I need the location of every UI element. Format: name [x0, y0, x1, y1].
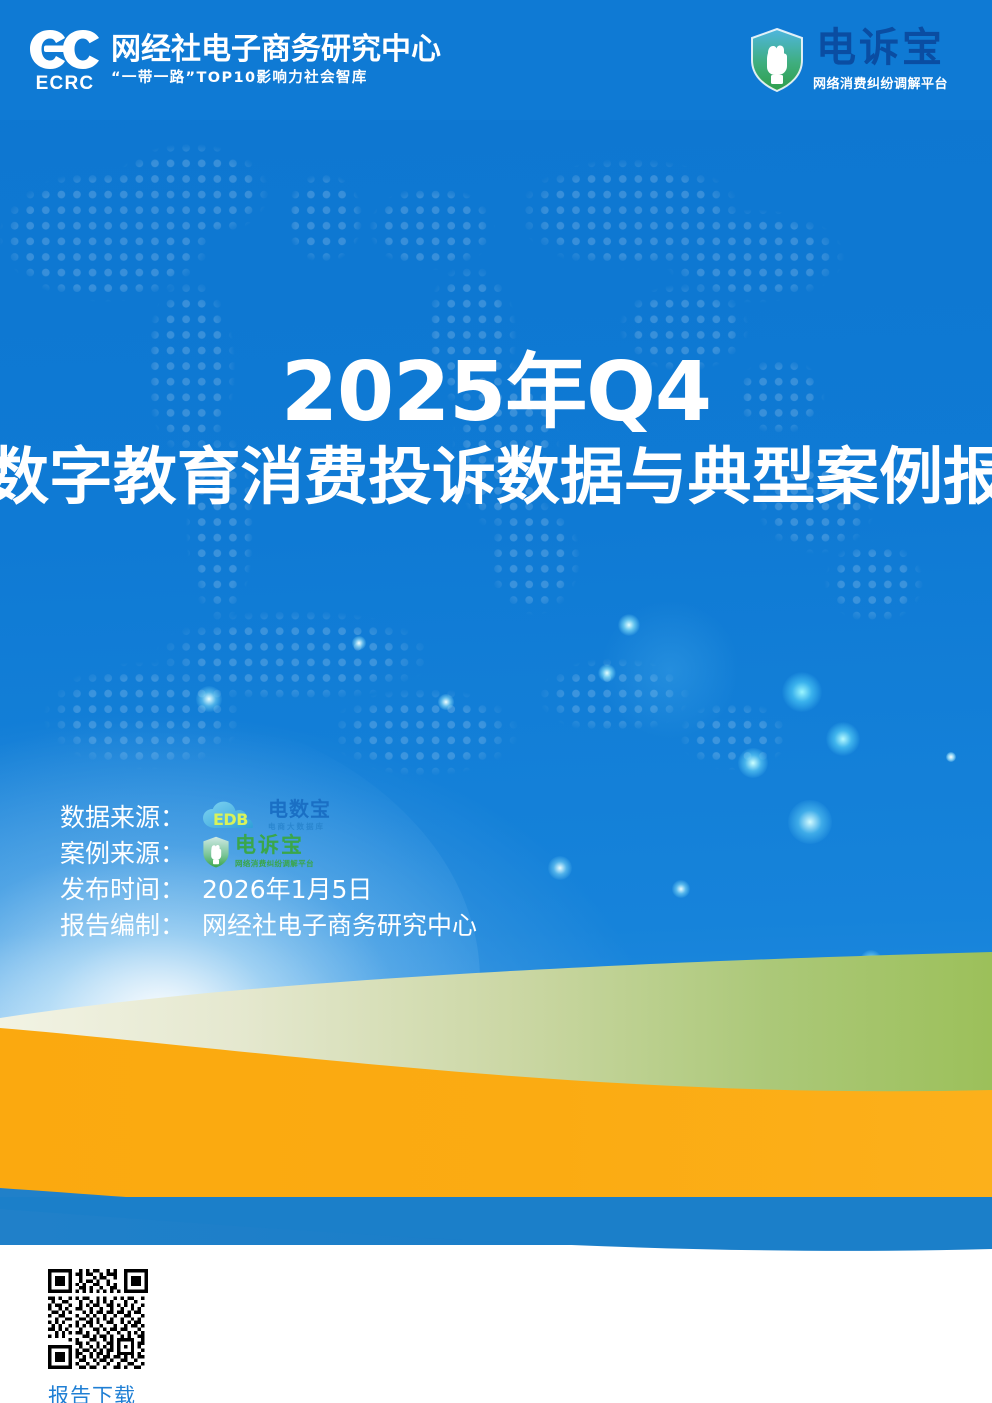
meta-row-data-source: 数据来源： EDB — [60, 800, 620, 831]
ecrc-monogram-icon: ECRC — [28, 28, 102, 93]
dianshubao-name: 电数宝 — [268, 799, 331, 819]
ecrc-abbreviation: ECRC — [36, 74, 95, 93]
shield-fist-icon — [202, 836, 230, 868]
meta-value-publisher: 网经社电子商务研究中心 — [202, 906, 477, 942]
qr-download-label[interactable]: 报告下载 — [48, 1380, 148, 1403]
ecrc-title: 网经社电子商务研究中心 — [111, 33, 441, 67]
meta-label: 报告编制： — [60, 906, 202, 942]
diansubao-logo: 电诉宝 网络消费纠纷调解平台 — [749, 28, 948, 92]
meta-row-case-source: 案例来源： — [60, 836, 620, 867]
diansubao-text: 电诉宝 网络消费纠纷调解平台 — [813, 28, 948, 92]
svg-text:EDB: EDB — [213, 810, 248, 829]
report-title: 2025年Q4 数字教育消费投诉数据与典型案例报告 — [0, 352, 992, 511]
footer-blue-swoosh — [0, 1197, 992, 1287]
report-title-line2: 数字教育消费投诉数据与典型案例报告 — [0, 442, 992, 511]
report-download-qr-code[interactable] — [48, 1269, 148, 1369]
diansubao-name: 电诉宝 — [816, 28, 945, 68]
diansubao-inline-tagline: 网络消费纠纷调解平台 — [235, 858, 314, 869]
qr-download-block[interactable]: 报告下载 — [48, 1269, 148, 1403]
diansubao-subtitle: 网络消费纠纷调解平台 — [813, 73, 948, 92]
dianshubao-tagline: 电商大数据库 — [268, 821, 331, 832]
meta-row-publish-date: 发布时间： 2026年1月5日 — [60, 872, 620, 903]
meta-label: 数据来源： — [60, 798, 202, 834]
ecrc-logo-text: 网经社电子商务研究中心 “一带一路”TOP10影响力社会智库 — [111, 33, 441, 87]
dianshubao-logo: EDB 电数宝 电商大数据库 — [202, 799, 331, 833]
diansubao-inline-logo: 电诉宝 网络消费纠纷调解平台 — [202, 834, 314, 870]
diansubao-inline-name: 电诉宝 — [235, 835, 314, 856]
poster-header: ECRC 网经社电子商务研究中心 “一带一路”TOP10影响力社会智库 — [0, 0, 992, 120]
dianshubao-text: 电数宝 电商大数据库 — [268, 799, 331, 832]
shield-fist-icon — [749, 28, 805, 92]
meta-value-publish-date: 2026年1月5日 — [202, 870, 372, 906]
meta-label: 发布时间： — [60, 870, 202, 906]
cloud-icon: EDB — [202, 801, 264, 831]
report-title-line1: 2025年Q4 — [0, 352, 992, 434]
poster-footer: 报告下载 — [0, 1245, 992, 1403]
poster-background: ECRC 网经社电子商务研究中心 “一带一路”TOP10影响力社会智库 — [0, 0, 992, 1245]
poster-page: ECRC 网经社电子商务研究中心 “一带一路”TOP10影响力社会智库 — [0, 0, 992, 1403]
diansubao-inline-text: 电诉宝 网络消费纠纷调解平台 — [235, 835, 314, 869]
report-meta-block: 数据来源： EDB — [60, 800, 620, 944]
meta-label: 案例来源： — [60, 834, 202, 870]
meta-row-publisher: 报告编制： 网经社电子商务研究中心 — [60, 908, 620, 939]
ecrc-logo: ECRC 网经社电子商务研究中心 “一带一路”TOP10影响力社会智库 — [28, 28, 441, 93]
ecrc-subtitle: “一带一路”TOP10影响力社会智库 — [111, 70, 441, 87]
